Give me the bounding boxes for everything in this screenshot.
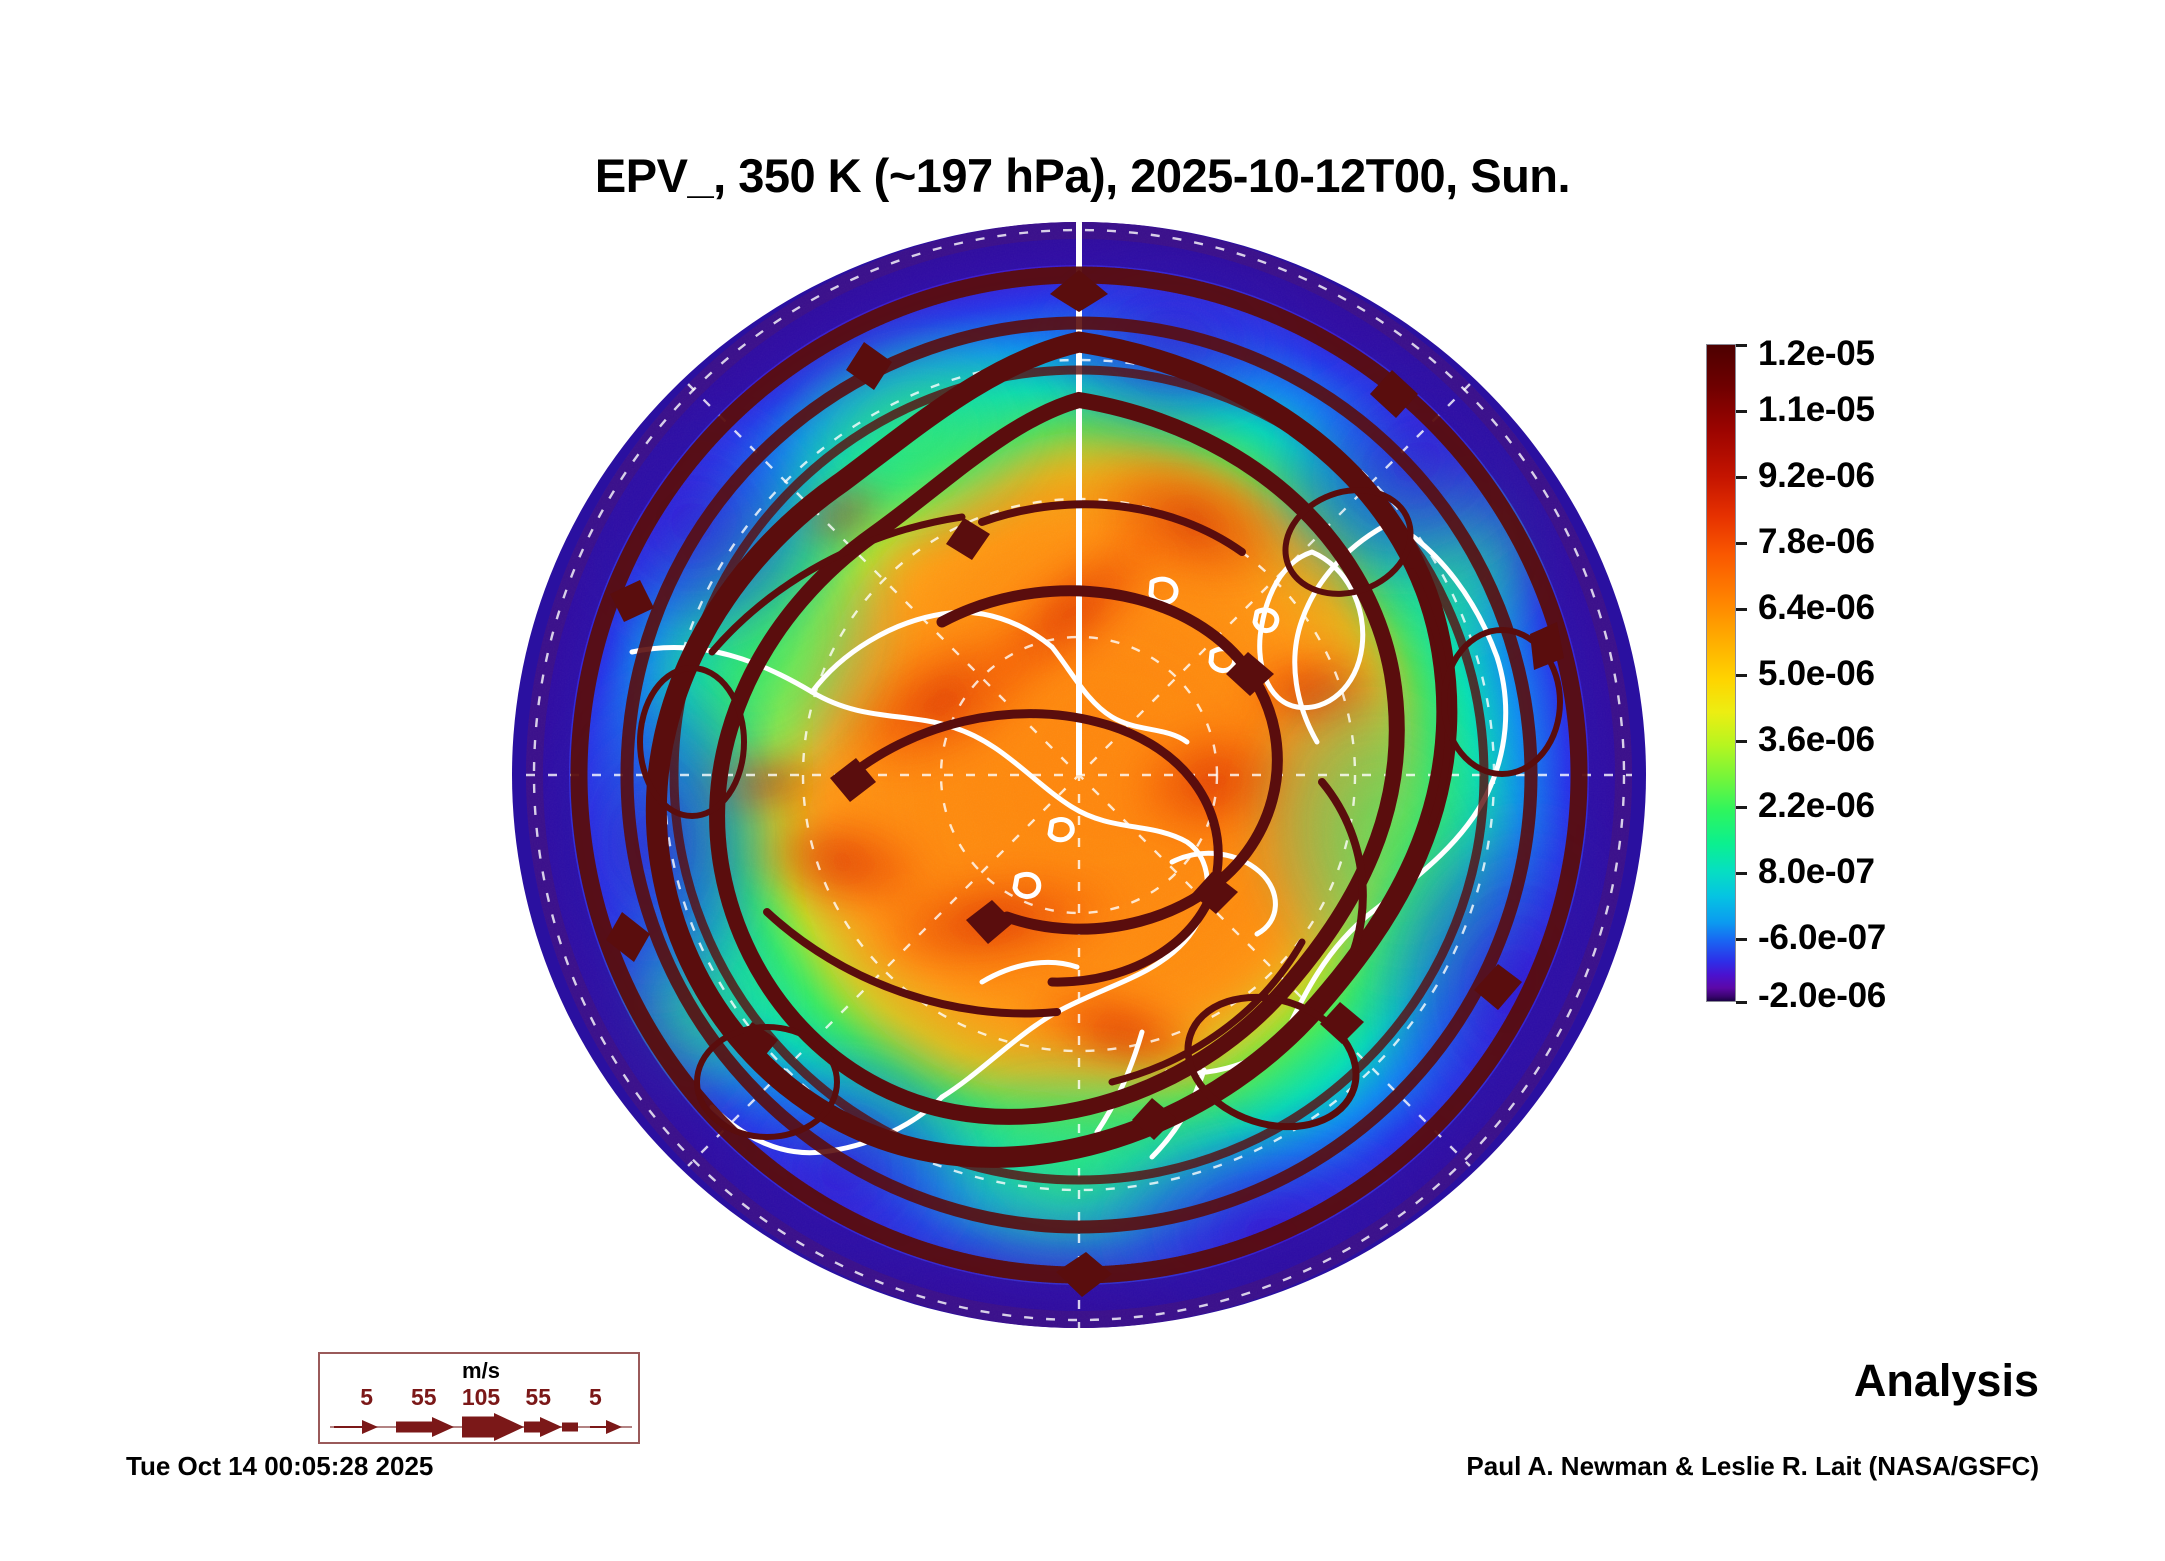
wind-legend-unit: m/s: [320, 1358, 642, 1384]
colorbar: 1.2e-05 1.1e-05 9.2e-06 7.8e-06 6.4e-06 …: [1706, 344, 2126, 1004]
colorbar-label: 5.0e-06: [1758, 654, 1875, 694]
colorbar-label: 1.2e-05: [1758, 334, 1875, 374]
colorbar-label: -2.0e-06: [1758, 976, 1886, 1016]
wind-legend-value: 105: [452, 1384, 509, 1411]
wind-legend-value: 55: [395, 1384, 452, 1411]
wind-legend-value: 5: [338, 1384, 395, 1411]
figure-canvas: EPV_, 350 K (~197 hPa), 2025-10-12T00, S…: [0, 0, 2165, 1561]
colorbar-tick: [1736, 542, 1747, 545]
wind-legend-value: 5: [567, 1384, 624, 1411]
colorbar-label: -6.0e-07: [1758, 918, 1886, 958]
author-credit: Paul A. Newman & Leslie R. Lait (NASA/GS…: [1466, 1451, 2039, 1482]
colorbar-label: 1.1e-05: [1758, 390, 1875, 430]
colorbar-tick: [1736, 344, 1747, 347]
colorbar-tick: [1736, 608, 1747, 611]
page-title: EPV_, 350 K (~197 hPa), 2025-10-12T00, S…: [0, 148, 2165, 203]
colorbar-label: 7.8e-06: [1758, 522, 1875, 562]
colorbar-label: 2.2e-06: [1758, 786, 1875, 826]
colorbar-tick: [1736, 740, 1747, 743]
generation-timestamp: Tue Oct 14 00:05:28 2025: [126, 1451, 433, 1482]
colorbar-tick: [1736, 476, 1747, 479]
colorbar-label: 8.0e-07: [1758, 852, 1875, 892]
colorbar-tick: [1736, 806, 1747, 809]
colorbar-gradient: [1706, 344, 1736, 1002]
polar-map: [512, 222, 1646, 1328]
colorbar-tick: [1736, 1001, 1747, 1004]
analysis-label: Analysis: [1854, 1355, 2039, 1407]
wind-legend-values: 5 55 105 55 5: [320, 1384, 642, 1411]
colorbar-tick: [1736, 674, 1747, 677]
colorbar-label: 9.2e-06: [1758, 456, 1875, 496]
colorbar-label: 6.4e-06: [1758, 588, 1875, 628]
map-disc: [512, 222, 1646, 1328]
wind-arrow-scale-icon: [328, 1412, 634, 1442]
epv-field: [512, 222, 1646, 1328]
colorbar-tick: [1736, 410, 1747, 413]
wind-speed-legend: m/s 5 55 105 55 5: [318, 1352, 640, 1444]
map-field-svg: [512, 222, 1646, 1328]
wind-legend-value: 55: [510, 1384, 567, 1411]
colorbar-tick: [1736, 938, 1747, 941]
wind-legend-arrows: [328, 1412, 634, 1442]
colorbar-label: 3.6e-06: [1758, 720, 1875, 760]
colorbar-tick: [1736, 872, 1747, 875]
